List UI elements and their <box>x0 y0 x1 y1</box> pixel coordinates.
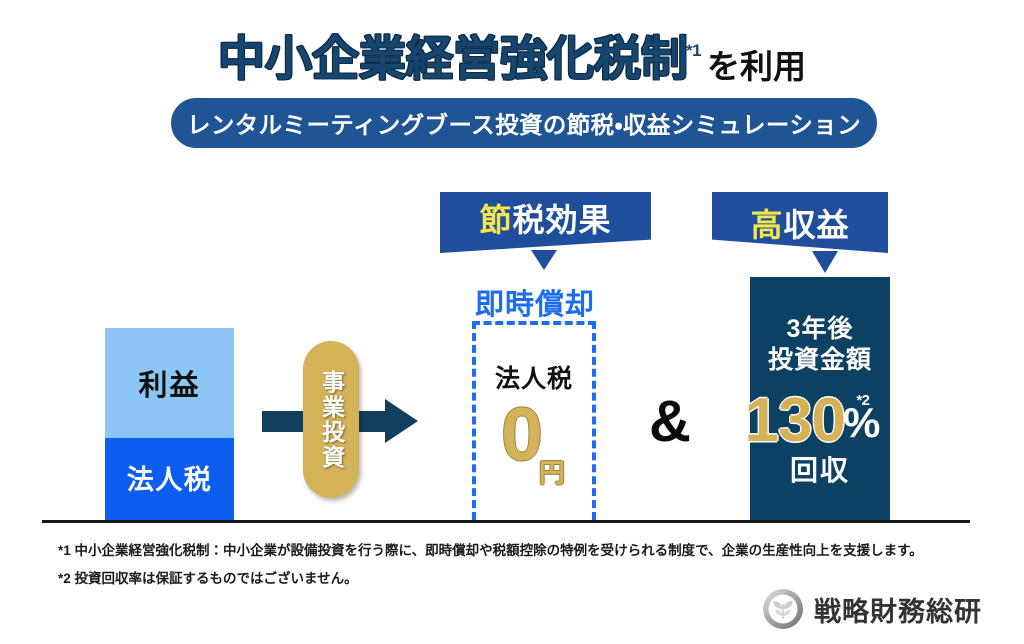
badge-tax-saving-rest: 税効果 <box>513 202 612 238</box>
leaf-circle-logo-icon <box>762 588 804 630</box>
badge-high-profit-highlight: 高 <box>750 207 783 243</box>
badge-tax-saving-highlight: 節 <box>479 202 512 238</box>
footnote-2: *2 投資回収率は保証するものではございません。 <box>58 567 358 587</box>
immediate-depreciation-heading: 即時償却 <box>455 281 615 323</box>
badge-tax-saving-label: 節税効果 <box>479 204 611 236</box>
subtitle-text: レンタルミーティングブース投資の節税・収益シミュレーション <box>187 106 861 140</box>
infographic-canvas: 中小企業経営強化税制*1を利用 レンタルミーティングブース投資の節税・収益シミュ… <box>0 0 1024 644</box>
bar-segment-profit: 利益 <box>105 328 234 438</box>
badge-high-profit-rest: 収益 <box>784 207 850 243</box>
bar-segment-corporate-tax: 法人税 <box>105 438 234 520</box>
badge-high-profit-pointer <box>812 251 838 273</box>
recovery-footnote-marker: *2 <box>856 392 869 409</box>
brand-logo-name: 戦略財務総研 <box>814 590 982 629</box>
ampersand-connector: & <box>630 393 710 451</box>
page-title-footnote-marker: *1 <box>686 41 701 60</box>
depreciation-amount-unit: 円 <box>539 458 565 488</box>
page-title: 中小企業経営強化税制*1を利用 <box>0 20 1024 89</box>
page-title-main: 中小企業経営強化税制 <box>218 32 688 85</box>
depreciation-corporate-tax-label: 法人税 <box>472 359 596 395</box>
arrow-head-icon <box>385 399 418 443</box>
recovery-percent-value: 130 <box>745 386 845 455</box>
badge-high-profit: 高収益 <box>712 192 888 253</box>
recovery-percent: 130%*2 <box>742 385 898 456</box>
bar-segment-profit-label: 利益 <box>138 362 200 404</box>
badge-high-profit-label: 高収益 <box>750 209 849 241</box>
brand-logo: 戦略財務総研 <box>762 588 982 630</box>
footnote-1: *1 中小企業経営強化税制：中小企業が設備投資を行う際に、即時償却や税額控除の特… <box>58 539 923 559</box>
bar-segment-corporate-tax-label: 法人税 <box>127 458 213 497</box>
subtitle-banner: レンタルミーティングブース投資の節税・収益シミュレーション <box>171 98 877 148</box>
badge-tax-saving-pointer <box>531 250 557 270</box>
depreciation-amount-value: 0 <box>501 392 541 476</box>
capsule-business-investment-label: 事業投資 <box>317 370 344 470</box>
recovery-line-2: 投資金額 <box>750 340 890 376</box>
depreciation-amount: 0円 <box>472 391 596 477</box>
badge-tax-saving: 節税効果 <box>440 192 651 253</box>
page-title-tail: を利用 <box>707 48 806 85</box>
recovery-line-3: 回収 <box>750 449 890 489</box>
footer-divider <box>42 520 970 523</box>
capsule-business-investment: 事業投資 <box>303 341 359 498</box>
